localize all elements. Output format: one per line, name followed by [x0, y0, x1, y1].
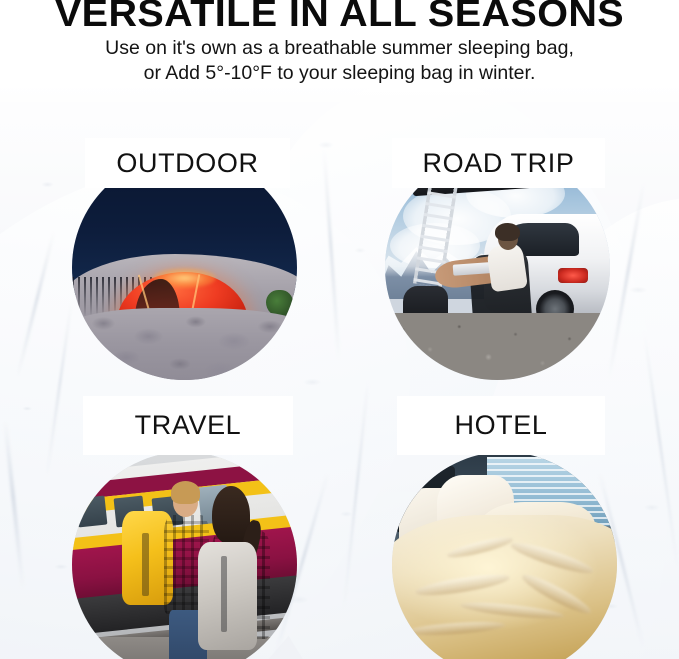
- panel-label-road-trip: ROAD TRIP: [423, 148, 575, 179]
- label-box-outdoor: OUTDOOR: [85, 138, 290, 188]
- label-box-hotel: HOTEL: [397, 396, 605, 455]
- outdoor-photo-circle: [72, 155, 297, 380]
- travel-photo-circle: [72, 452, 297, 659]
- backpack-strap: [142, 533, 149, 596]
- versatile-seasons-infographic: VERSATILE IN ALL SEASONS Use on it's own…: [0, 0, 679, 659]
- panel-label-hotel: HOTEL: [454, 410, 547, 441]
- grey-backpack: [198, 542, 257, 650]
- backpack-strap: [221, 556, 228, 633]
- road-trip-photo: [385, 155, 610, 380]
- header-block: VERSATILE IN ALL SEASONS Use on it's own…: [0, 0, 679, 86]
- travel-photo: [72, 452, 297, 659]
- outdoor-photo: [72, 155, 297, 380]
- subtitle-line-1: Use on it's own as a breathable summer s…: [0, 36, 679, 61]
- subtitle-line-2: or Add 5°-10°F to your sleeping bag in w…: [0, 61, 679, 86]
- gravel-ground: [385, 313, 610, 381]
- panel-label-outdoor: OUTDOOR: [116, 148, 258, 179]
- hotel-photo: [392, 452, 617, 659]
- page-title: VERSATILE IN ALL SEASONS: [0, 0, 679, 31]
- man-hair: [171, 481, 200, 504]
- label-box-road-trip: ROAD TRIP: [392, 138, 605, 188]
- person-torso: [486, 243, 528, 293]
- person-hair: [495, 223, 520, 241]
- panel-label-travel: TRAVEL: [135, 410, 242, 441]
- road-trip-photo-circle: [385, 155, 610, 380]
- snow-rocks: [72, 304, 297, 381]
- car-taillight: [558, 268, 587, 284]
- label-box-travel: TRAVEL: [83, 396, 293, 455]
- train-window: [75, 496, 107, 528]
- page-subtitle: Use on it's own as a breathable summer s…: [0, 36, 679, 86]
- hotel-photo-circle: [392, 452, 617, 659]
